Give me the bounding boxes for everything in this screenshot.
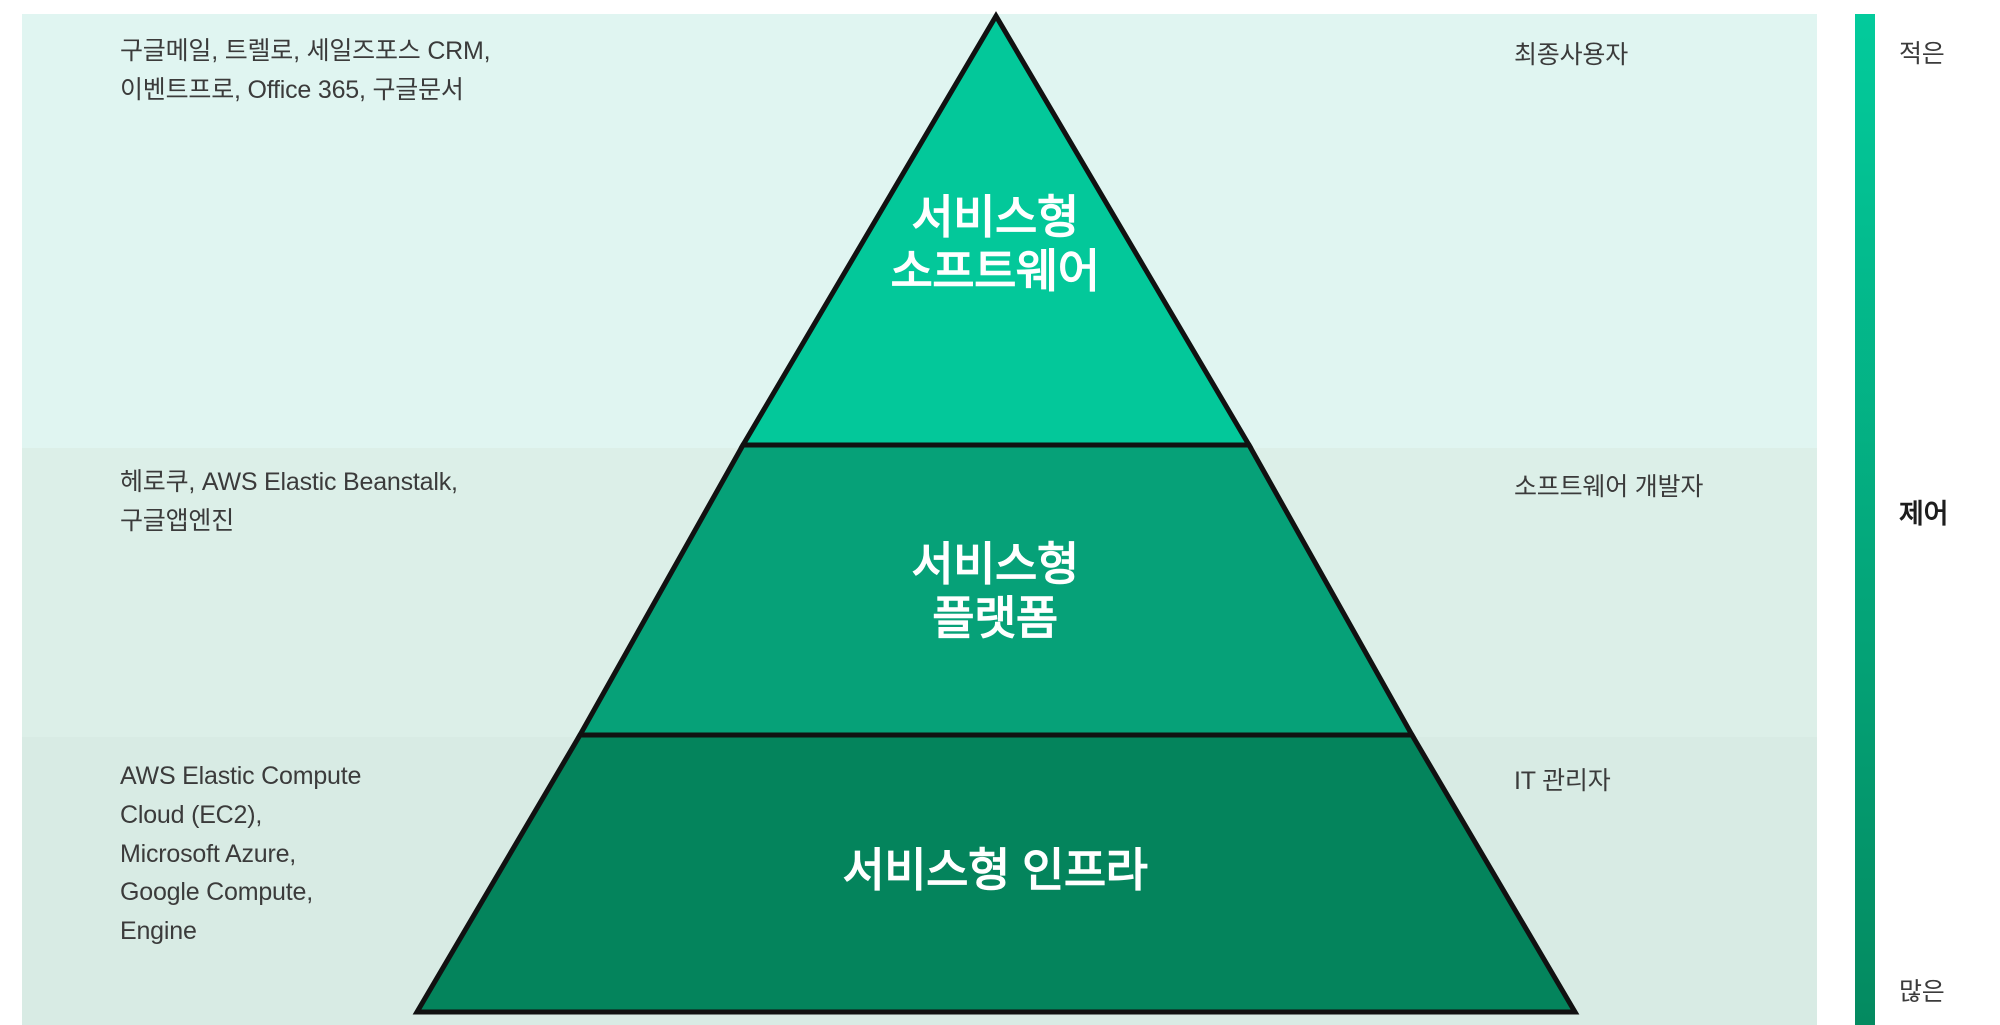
examples-iaas: AWS Elastic Compute Cloud (EC2), Microso… [120, 757, 450, 951]
audience-paas: 소프트웨어 개발자 [1514, 469, 1703, 507]
legend-title: 제어 [1899, 492, 1948, 531]
audience-saas: 최종사용자 [1514, 37, 1628, 75]
examples-paas: 헤로쿠, AWS Elastic Beanstalk, 구글앱엔진 [120, 463, 640, 541]
pyramid-tier-paas-label: 서비스형 플랫폼 [735, 537, 1255, 646]
legend-label-less: 적은 [1899, 34, 1945, 70]
control-legend: 적은 제어 많은 [1855, 14, 2000, 1025]
pyramid-tier-iaas-label: 서비스형 인프라 [700, 843, 1290, 897]
examples-saas: 구글메일, 트렐로, 세일즈포스 CRM, 이벤트프로, Office 365,… [120, 32, 640, 110]
diagram-canvas: 서비스형 소프트웨어 서비스형 플랫폼 서비스형 인프라 구글메일, 트렐로, … [0, 0, 2000, 1025]
pyramid-tier-saas-label: 서비스형 소프트웨어 [735, 190, 1255, 299]
legend-gradient-bar [1855, 14, 1875, 1025]
audience-iaas: IT 관리자 [1514, 763, 1611, 801]
legend-label-more: 많은 [1899, 972, 1945, 1008]
